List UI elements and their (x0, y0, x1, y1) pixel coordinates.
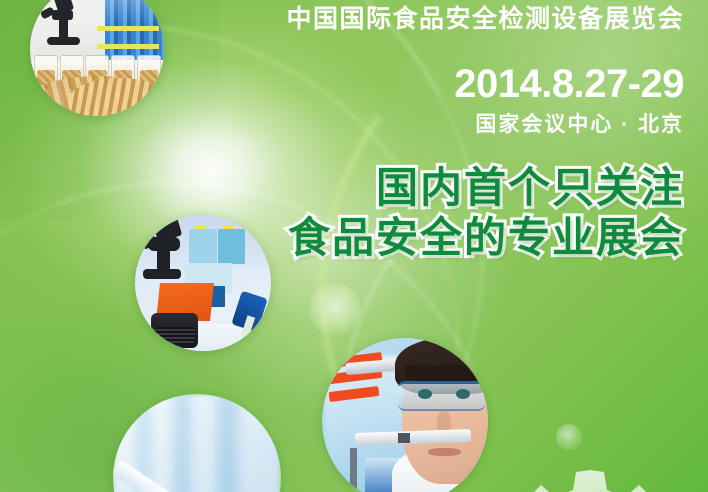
photo-scientist (322, 338, 488, 492)
exhibition-banner: Trade Show (FTE) 中国国际食品安全检测设备展览会 2014.8.… (0, 0, 708, 492)
photo-pipette (113, 394, 281, 492)
event-venue: 国家会议中心 · 北京 (250, 112, 684, 138)
pale-circle-decoration (309, 283, 361, 335)
headline: 国内首个只关注 食品安全的专业展会 (250, 164, 684, 262)
photo-lab-wheat (30, 0, 164, 116)
text-block: Trade Show (FTE) 中国国际食品安全检测设备展览会 2014.8.… (250, 0, 696, 262)
gear-icon (500, 436, 680, 492)
event-date: 2014.8.27-29 (250, 62, 684, 106)
title-chinese: 中国国际食品安全检测设备展览会 (250, 4, 684, 34)
headline-line-2: 食品安全的专业展会 (250, 214, 684, 262)
headline-line-1: 国内首个只关注 (250, 164, 684, 212)
